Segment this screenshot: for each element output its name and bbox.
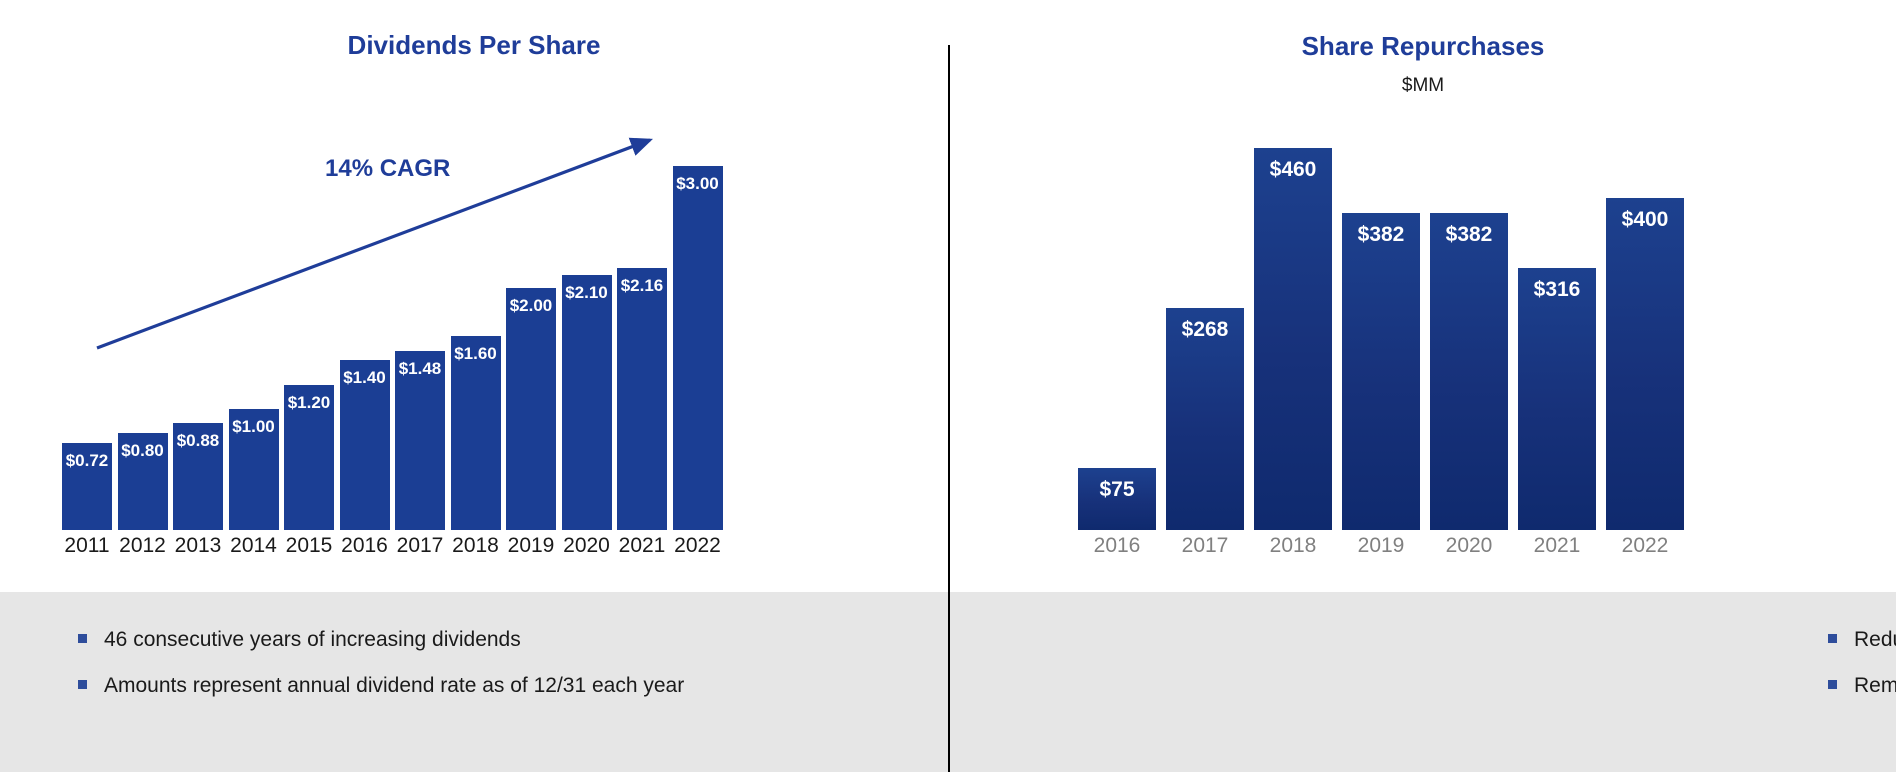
bullet-item: Amounts represent annual dividend rate a… bbox=[78, 671, 778, 701]
axis-tick-2015: 2015 bbox=[284, 534, 334, 558]
bar-value-label: $1.60 bbox=[451, 344, 501, 364]
bar-value-label: $1.48 bbox=[395, 359, 445, 379]
bar-2015: $1.20 bbox=[284, 385, 334, 530]
bar-value-label: $0.72 bbox=[62, 451, 112, 471]
axis-tick-2019: 2019 bbox=[1342, 534, 1420, 558]
axis-tick-2011: 2011 bbox=[62, 534, 112, 558]
bar-2022: $400 bbox=[1606, 198, 1684, 530]
axis-tick-2019: 2019 bbox=[506, 534, 556, 558]
bar-value-label: $2.16 bbox=[617, 276, 667, 296]
cagr-annotation: 14% CAGR bbox=[325, 155, 450, 183]
axis-tick-2012: 2012 bbox=[118, 534, 168, 558]
bar-value-label: $1.20 bbox=[284, 393, 334, 413]
axis-tick-2020: 2020 bbox=[562, 534, 612, 558]
left-bullet-list: 46 consecutive years of increasing divid… bbox=[78, 625, 778, 717]
axis-tick-2018: 2018 bbox=[1254, 534, 1332, 558]
bar-2018: $460 bbox=[1254, 148, 1332, 530]
bullet-text: Amounts represent annual dividend rate a… bbox=[104, 671, 684, 701]
bullet-text: Reduced total shares outstanding by 21% … bbox=[1854, 625, 1896, 655]
axis-tick-2022: 2022 bbox=[673, 534, 723, 558]
slide-canvas: Dividends Per Share 14% CAGR $0.72$0.80$… bbox=[0, 0, 1896, 772]
bar-2020: $382 bbox=[1430, 213, 1508, 530]
bar-2019: $382 bbox=[1342, 213, 1420, 530]
bullet-item: 46 consecutive years of increasing divid… bbox=[78, 625, 778, 655]
bar-2012: $0.80 bbox=[118, 433, 168, 530]
bar-value-label: $268 bbox=[1166, 318, 1244, 342]
axis-tick-2021: 2021 bbox=[1518, 534, 1596, 558]
bar-2018: $1.60 bbox=[451, 336, 501, 530]
bar-2017: $1.48 bbox=[395, 351, 445, 530]
bar-2011: $0.72 bbox=[62, 443, 112, 530]
bar-2020: $2.10 bbox=[562, 275, 612, 530]
bullet-square-icon bbox=[78, 634, 87, 643]
bullet-text: 46 consecutive years of increasing divid… bbox=[104, 625, 521, 655]
axis-tick-2020: 2020 bbox=[1430, 534, 1508, 558]
bar-2014: $1.00 bbox=[229, 409, 279, 530]
bar-value-label: $2.00 bbox=[506, 296, 556, 316]
axis-tick-2017: 2017 bbox=[1166, 534, 1244, 558]
bullet-square-icon bbox=[1828, 680, 1837, 689]
axis-tick-2022: 2022 bbox=[1606, 534, 1684, 558]
axis-tick-2021: 2021 bbox=[617, 534, 667, 558]
axis-tick-2014: 2014 bbox=[229, 534, 279, 558]
bullet-square-icon bbox=[1828, 634, 1837, 643]
share-repurchases-chart: $75$268$460$382$382$316$400 201620172018… bbox=[950, 0, 1896, 592]
axis-tick-2013: 2013 bbox=[173, 534, 223, 558]
bar-2022: $3.00 bbox=[673, 166, 723, 530]
bar-2016: $75 bbox=[1078, 468, 1156, 530]
axis-tick-2016: 2016 bbox=[1078, 534, 1156, 558]
bullet-item: Reduced total shares outstanding by 21% … bbox=[1828, 625, 1896, 655]
bar-value-label: $1.00 bbox=[229, 417, 279, 437]
dividends-per-share-chart: 14% CAGR $0.72$0.80$0.88$1.00$1.20$1.40$… bbox=[0, 0, 948, 592]
axis-tick-2017: 2017 bbox=[395, 534, 445, 558]
bar-value-label: $0.88 bbox=[173, 431, 223, 451]
bullet-square-icon bbox=[78, 680, 87, 689]
bullet-item: Remain committed to share repurchases bbox=[1828, 671, 1896, 701]
right-panel: Share Repurchases $MM $75$268$460$382$38… bbox=[950, 0, 1896, 772]
bar-2019: $2.00 bbox=[506, 288, 556, 530]
left-panel: Dividends Per Share 14% CAGR $0.72$0.80$… bbox=[0, 0, 948, 772]
bar-value-label: $0.80 bbox=[118, 441, 168, 461]
bar-2016: $1.40 bbox=[340, 360, 390, 530]
bullet-text: Remain committed to share repurchases bbox=[1854, 671, 1896, 701]
axis-tick-2016: 2016 bbox=[340, 534, 390, 558]
right-bullet-list: Reduced total shares outstanding by 21% … bbox=[1828, 625, 1896, 717]
bar-value-label: $2.10 bbox=[562, 283, 612, 303]
bar-2021: $2.16 bbox=[617, 268, 667, 530]
axis-tick-2018: 2018 bbox=[451, 534, 501, 558]
bar-value-label: $382 bbox=[1430, 223, 1508, 247]
bar-value-label: $3.00 bbox=[673, 174, 723, 194]
bar-value-label: $75 bbox=[1078, 478, 1156, 502]
bar-value-label: $460 bbox=[1254, 158, 1332, 182]
bar-value-label: $400 bbox=[1606, 208, 1684, 232]
bar-2013: $0.88 bbox=[173, 423, 223, 530]
bar-2017: $268 bbox=[1166, 308, 1244, 530]
bar-value-label: $316 bbox=[1518, 278, 1596, 302]
bar-value-label: $1.40 bbox=[340, 368, 390, 388]
bar-2021: $316 bbox=[1518, 268, 1596, 530]
bar-value-label: $382 bbox=[1342, 223, 1420, 247]
